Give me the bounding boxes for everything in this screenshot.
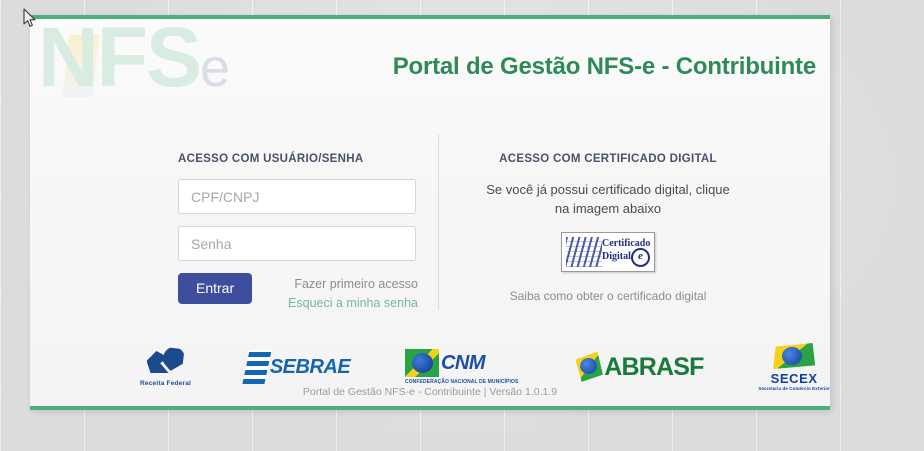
watermark-e-text: e bbox=[200, 38, 228, 98]
sebrae-bars-icon bbox=[242, 350, 271, 384]
cpf-cnpj-input[interactable] bbox=[178, 179, 416, 214]
barcode-icon bbox=[566, 237, 602, 267]
forgot-password-link[interactable]: Esqueci a minha senha bbox=[288, 294, 418, 313]
logo-secex[interactable]: SECEX Secretaria de Comércio Exterior bbox=[758, 343, 830, 391]
login-links: Fazer primeiro acesso Esqueci a minha se… bbox=[288, 273, 418, 314]
logo-receita-federal[interactable]: Receita Federal bbox=[140, 347, 191, 387]
sebrae-label: SEBRAE bbox=[270, 356, 350, 379]
secex-label: SECEX bbox=[758, 371, 830, 386]
first-access-link[interactable]: Fazer primeiro acesso bbox=[288, 275, 418, 294]
certificate-help-link[interactable]: Saiba como obter o certificado digital bbox=[482, 289, 734, 303]
password-input[interactable] bbox=[178, 226, 416, 261]
nfse-watermark-logo: NFSe bbox=[38, 15, 228, 99]
user-password-section: ACESSO COM USUÁRIO/SENHA Entrar Fazer pr… bbox=[178, 153, 418, 314]
certificate-heading: ACESSO COM CERTIFICADO DIGITAL bbox=[482, 153, 734, 165]
page-title: Portal de Gestão NFS-e - Contribuinte bbox=[393, 53, 816, 81]
cnm-label: CNM bbox=[441, 352, 485, 375]
e-circle-icon: e bbox=[631, 248, 650, 267]
watermark-nfs-text: NFS bbox=[38, 15, 200, 104]
logo-cnm[interactable]: CNM CONFEDERAÇÃO NACIONAL DE MUNICÍPIOS bbox=[405, 349, 518, 385]
cnm-sublabel: CONFEDERAÇÃO NACIONAL DE MUNICÍPIOS bbox=[405, 379, 518, 385]
certificate-section: ACESSO COM CERTIFICADO DIGITAL Se você j… bbox=[482, 153, 734, 303]
certificado-digital-badge[interactable]: Certificado Digital e bbox=[561, 232, 655, 272]
login-card: NFSe Portal de Gestão NFS-e - Contribuin… bbox=[30, 15, 830, 410]
cnm-globe-icon bbox=[405, 349, 439, 377]
column-divider bbox=[438, 134, 439, 310]
login-actions: Entrar Fazer primeiro acesso Esqueci a m… bbox=[178, 273, 418, 314]
card-footer-text: Portal de Gestão NFS-e - Contribuinte | … bbox=[30, 386, 830, 398]
receita-federal-icon bbox=[145, 347, 187, 377]
entrar-button[interactable]: Entrar bbox=[178, 273, 252, 304]
abrasf-label: ABRASF bbox=[604, 353, 703, 382]
login-columns: ACESSO COM USUÁRIO/SENHA Entrar Fazer pr… bbox=[30, 131, 830, 311]
watermark-flag-accent bbox=[63, 35, 100, 97]
secex-globe-icon bbox=[773, 343, 815, 369]
abrasf-globe-icon bbox=[573, 352, 603, 382]
cnm-row: CNM bbox=[405, 349, 518, 377]
certificate-instructions: Se você já possui certificado digital, c… bbox=[482, 181, 734, 219]
user-password-heading: ACESSO COM USUÁRIO/SENHA bbox=[178, 153, 418, 165]
logo-abrasf[interactable]: ABRASF bbox=[573, 352, 703, 382]
logo-sebrae[interactable]: SEBRAE bbox=[246, 350, 350, 384]
